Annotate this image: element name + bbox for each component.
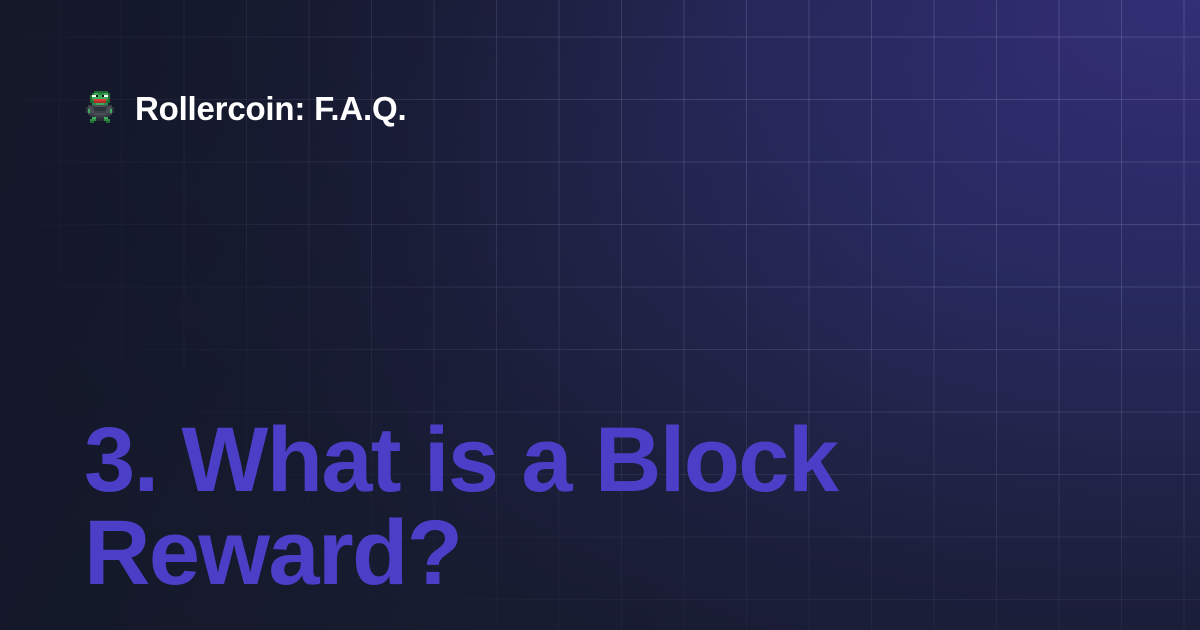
brand-row: Rollercoin: F.A.Q. xyxy=(84,84,406,132)
brand-title: Rollercoin: F.A.Q. xyxy=(135,92,406,125)
card-content: Rollercoin: F.A.Q. 3. What is a Block Re… xyxy=(0,0,1200,630)
page-title: 3. What is a Block Reward? xyxy=(84,414,904,600)
faq-social-card: Rollercoin: F.A.Q. 3. What is a Block Re… xyxy=(0,0,1200,630)
pixel-frog-icon xyxy=(84,89,118,127)
